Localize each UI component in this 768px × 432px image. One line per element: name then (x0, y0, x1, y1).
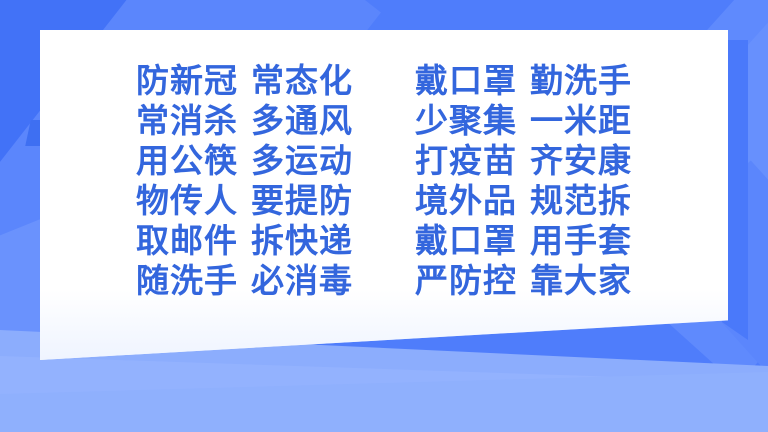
slogan-phrase-first: 防新冠 (136, 61, 238, 100)
slogan-phrase-second: 要提防 (251, 181, 353, 220)
slogan-phrase-second: 用手套 (530, 221, 632, 260)
slogan-line: 用公筷多运动 (136, 144, 353, 177)
slogan-line: 严防控靠大家 (415, 264, 632, 297)
slogan-phrase-second: 齐安康 (530, 141, 632, 180)
slogan-phrase-first: 严防控 (415, 261, 517, 300)
slogan-phrase-first: 取邮件 (136, 221, 238, 260)
slogan-phrase-second: 规范拆 (530, 181, 632, 220)
slogan-line: 常消杀多通风 (136, 104, 353, 137)
slogan-line: 物传人要提防 (136, 184, 353, 217)
slogan-phrase-second: 常态化 (251, 61, 353, 100)
slogan-line: 取邮件拆快递 (136, 224, 353, 257)
slogan-phrase-second: 拆快递 (251, 221, 353, 260)
poster-canvas: 防新冠常态化 常消杀多通风 用公筷多运动 物传人要提防 取邮件拆快递 随洗手必消… (0, 0, 768, 432)
slogan-line: 防新冠常态化 (136, 64, 353, 97)
slogan-phrase-second: 必消毒 (251, 261, 353, 300)
slogan-line: 境外品规范拆 (415, 184, 632, 217)
slogan-phrase-first: 境外品 (415, 181, 517, 220)
slogan-line: 打疫苗齐安康 (415, 144, 632, 177)
slogan-line: 戴口罩用手套 (415, 224, 632, 257)
slogan-phrase-first: 随洗手 (136, 261, 238, 300)
slogan-phrase-second: 靠大家 (530, 261, 632, 300)
slogan-phrase-first: 打疫苗 (415, 141, 517, 180)
slogan-line: 戴口罩勤洗手 (415, 64, 632, 97)
slogan-phrase-second: 一米距 (530, 101, 632, 140)
slogan-phrase-first: 用公筷 (136, 141, 238, 180)
slogan-column-right: 戴口罩勤洗手 少聚集一米距 打疫苗齐安康 境外品规范拆 戴口罩用手套 严防控靠大… (415, 64, 632, 297)
slogan-line: 随洗手必消毒 (136, 264, 353, 297)
slogan-phrase-first: 少聚集 (415, 101, 517, 140)
slogan-phrase-second: 多运动 (251, 141, 353, 180)
slogan-phrase-second: 多通风 (251, 101, 353, 140)
slogan-phrase-second: 勤洗手 (530, 61, 632, 100)
slogan-phrase-first: 常消杀 (136, 101, 238, 140)
slogan-column-left: 防新冠常态化 常消杀多通风 用公筷多运动 物传人要提防 取邮件拆快递 随洗手必消… (136, 64, 353, 297)
slogan-phrase-first: 戴口罩 (415, 61, 517, 100)
slogan-line: 少聚集一米距 (415, 104, 632, 137)
slogan-phrase-first: 戴口罩 (415, 221, 517, 260)
slogan-phrase-first: 物传人 (136, 181, 238, 220)
slogan-area: 防新冠常态化 常消杀多通风 用公筷多运动 物传人要提防 取邮件拆快递 随洗手必消… (40, 30, 728, 330)
